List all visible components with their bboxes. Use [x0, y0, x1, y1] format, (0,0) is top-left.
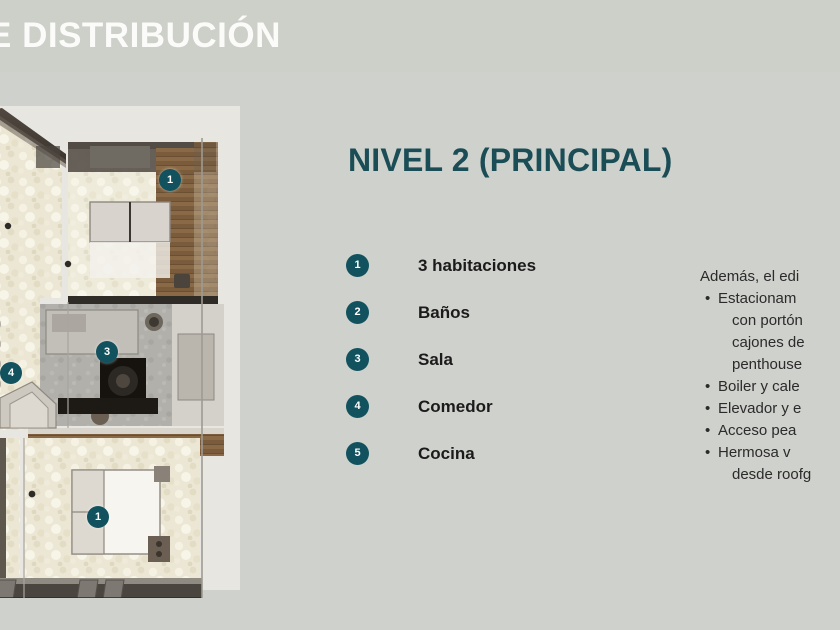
- banner-title: E DISTRIBUCIÓN: [0, 16, 281, 56]
- extras-line: Hermosa v: [718, 442, 840, 464]
- banner-header: E DISTRIBUCIÓN: [0, 0, 840, 72]
- extras-line: con portón: [718, 310, 840, 332]
- legend-label-3: Sala: [418, 350, 453, 370]
- legend-label-1: 3 habitaciones: [418, 256, 536, 276]
- extras-line: Acceso pea: [718, 420, 840, 442]
- extras-line: Estacionam: [718, 288, 840, 310]
- legend-badge-1: 1: [346, 254, 369, 277]
- extras-block: Además, el edi Estacionam con portón caj…: [700, 266, 840, 486]
- extras-line: Elevador y e: [718, 398, 840, 420]
- extras-line: cajones de: [718, 332, 840, 354]
- list-item[interactable]: 2 Baños: [346, 289, 626, 336]
- list-item[interactable]: 1 3 habitaciones: [346, 242, 626, 289]
- plan-marker-4[interactable]: 4: [0, 362, 22, 384]
- list-item[interactable]: 4 Comedor: [346, 383, 626, 430]
- legend-label-2: Baños: [418, 303, 470, 323]
- legend-badge-2: 2: [346, 301, 369, 324]
- extras-line: penthouse: [718, 354, 840, 376]
- legend-badge-5: 5: [346, 442, 369, 465]
- legend-label-4: Comedor: [418, 397, 493, 417]
- floorplan-render: [0, 98, 240, 598]
- extras-intro: Además, el edi: [700, 266, 840, 288]
- page-title: NIVEL 2 (PRINCIPAL): [348, 142, 672, 179]
- extras-list: Estacionam con portón cajones de penthou…: [700, 288, 840, 486]
- legend-badge-4: 4: [346, 395, 369, 418]
- plan-marker-1a[interactable]: 1: [159, 169, 181, 191]
- list-item[interactable]: 3 Sala: [346, 336, 626, 383]
- legend-label-5: Cocina: [418, 444, 475, 464]
- plan-marker-3[interactable]: 3: [96, 341, 118, 363]
- list-item[interactable]: 5 Cocina: [346, 430, 626, 477]
- slide-root: E DISTRIBUCIÓN: [0, 0, 840, 630]
- extras-line: Boiler y cale: [718, 376, 840, 398]
- legend-list: 1 3 habitaciones 2 Baños 3 Sala 4 Comedo…: [346, 242, 626, 477]
- floorplan-image: [0, 98, 240, 598]
- extras-line: desde roofg: [718, 464, 840, 486]
- legend-badge-3: 3: [346, 348, 369, 371]
- plan-marker-1b[interactable]: 1: [87, 506, 109, 528]
